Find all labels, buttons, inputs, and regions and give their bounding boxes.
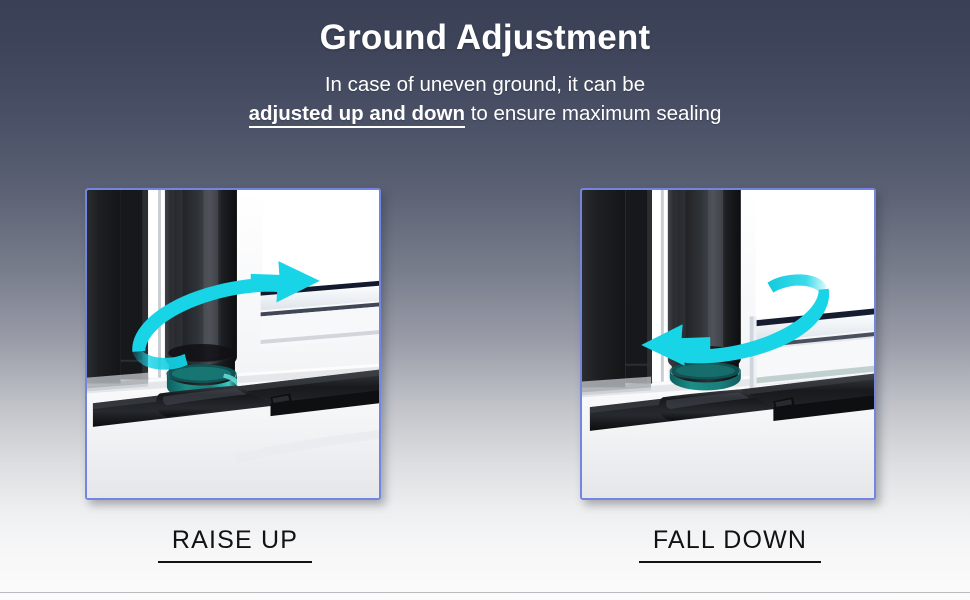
header: Ground Adjustment In case of uneven grou…: [0, 0, 970, 128]
caption-raise-up: RAISE UP: [85, 526, 385, 563]
caption-raise-up-text: RAISE UP: [158, 526, 312, 563]
subtitle-emphasis: adjusted up and down: [249, 102, 465, 128]
page-title: Ground Adjustment: [0, 0, 970, 58]
subtitle-line-2-rest: to ensure maximum sealing: [465, 102, 721, 125]
subtitle-line-2: adjusted up and down to ensure maximum s…: [0, 99, 970, 128]
bottom-divider: [0, 592, 970, 593]
shower-door-foot-fall-illustration: [582, 190, 874, 498]
caption-fall-down-text: FALL DOWN: [639, 526, 821, 563]
caption-fall-down: FALL DOWN: [580, 526, 880, 563]
infographic-page: Ground Adjustment In case of uneven grou…: [0, 0, 970, 600]
panel-fall-down: FALL DOWN: [580, 188, 880, 563]
subtitle-line-1: In case of uneven ground, it can be: [0, 70, 970, 99]
panel-raise-up: RAISE UP: [85, 188, 385, 563]
shower-door-foot-raise-illustration: [87, 190, 379, 498]
photo-raise-up: [85, 188, 381, 500]
page-subtitle: In case of uneven ground, it can be adju…: [0, 58, 970, 128]
photo-fall-down: [580, 188, 876, 500]
